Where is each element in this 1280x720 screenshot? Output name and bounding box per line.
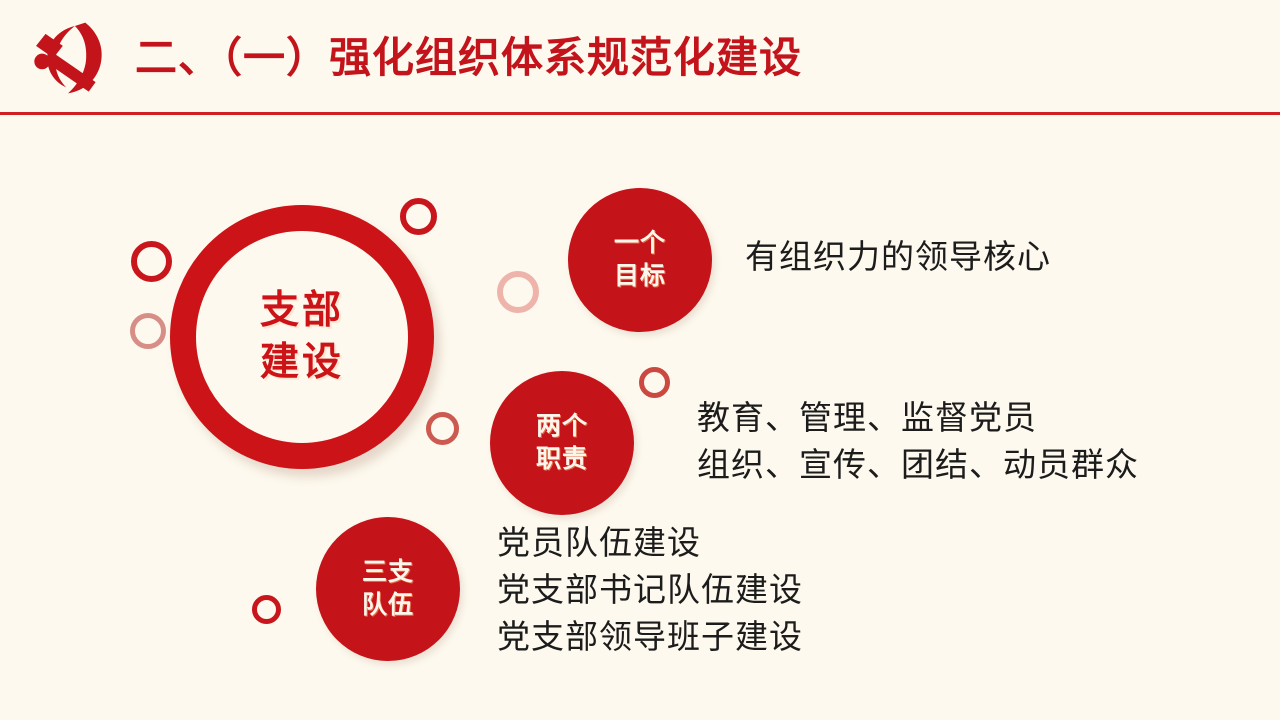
diagram-area: 支部 建设 一个 目标 有组织力的领导核心 两个 职责 教育、管理、监督党员 组… <box>0 114 1280 720</box>
slide-header: 二、（一）强化组织体系规范化建设 <box>0 0 1280 114</box>
desc-three-teams: 党员队伍建设 党支部书记队伍建设 党支部领导班子建设 <box>497 519 803 660</box>
deco-ring-pink-mid <box>497 271 539 313</box>
hammer-and-sickle-icon <box>24 20 112 96</box>
hub-circle-branch-building[interactable]: 支部 建设 <box>170 205 434 469</box>
hub-label-line-1: 支部 <box>260 285 344 337</box>
desc-three-teams-line-2: 党支部书记队伍建设 <box>497 566 803 613</box>
desc-one-goal: 有组织力的领导核心 <box>745 233 1051 280</box>
bubble-three-teams-line-2: 队伍 <box>362 589 414 622</box>
desc-one-goal-line-1: 有组织力的领导核心 <box>745 233 1051 280</box>
slide-canvas: 二、（一）强化组织体系规范化建设 支部 建设 一个 目标 有组织力的领导核心 两… <box>0 0 1280 720</box>
bubble-three-teams-line-1: 三支 <box>362 556 414 589</box>
bubble-one-goal-line-1: 一个 <box>614 227 666 260</box>
bubble-three-teams[interactable]: 三支 队伍 <box>316 517 460 661</box>
deco-ring-hub-right <box>426 412 459 445</box>
hub-label-line-2: 建设 <box>260 337 344 389</box>
desc-two-duties-line-1: 教育、管理、监督党员 <box>697 394 1139 441</box>
deco-ring-duty-top <box>639 367 670 398</box>
bubble-two-duties[interactable]: 两个 职责 <box>490 371 634 515</box>
bubble-one-goal[interactable]: 一个 目标 <box>568 188 712 332</box>
bubble-two-duties-line-2: 职责 <box>536 443 588 476</box>
deco-ring-left-lower <box>130 313 166 349</box>
desc-three-teams-line-1: 党员队伍建设 <box>497 519 803 566</box>
deco-ring-top-mid <box>400 198 437 235</box>
desc-two-duties: 教育、管理、监督党员 组织、宣传、团结、动员群众 <box>697 394 1139 488</box>
page-title: 二、（一）强化组织体系规范化建设 <box>135 33 802 83</box>
bubble-two-duties-line-1: 两个 <box>536 410 588 443</box>
deco-ring-left-upper <box>131 241 172 282</box>
desc-three-teams-line-3: 党支部领导班子建设 <box>497 613 803 660</box>
deco-ring-bottom-left <box>252 595 281 624</box>
desc-two-duties-line-2: 组织、宣传、团结、动员群众 <box>697 441 1139 488</box>
bubble-one-goal-line-2: 目标 <box>614 260 666 293</box>
